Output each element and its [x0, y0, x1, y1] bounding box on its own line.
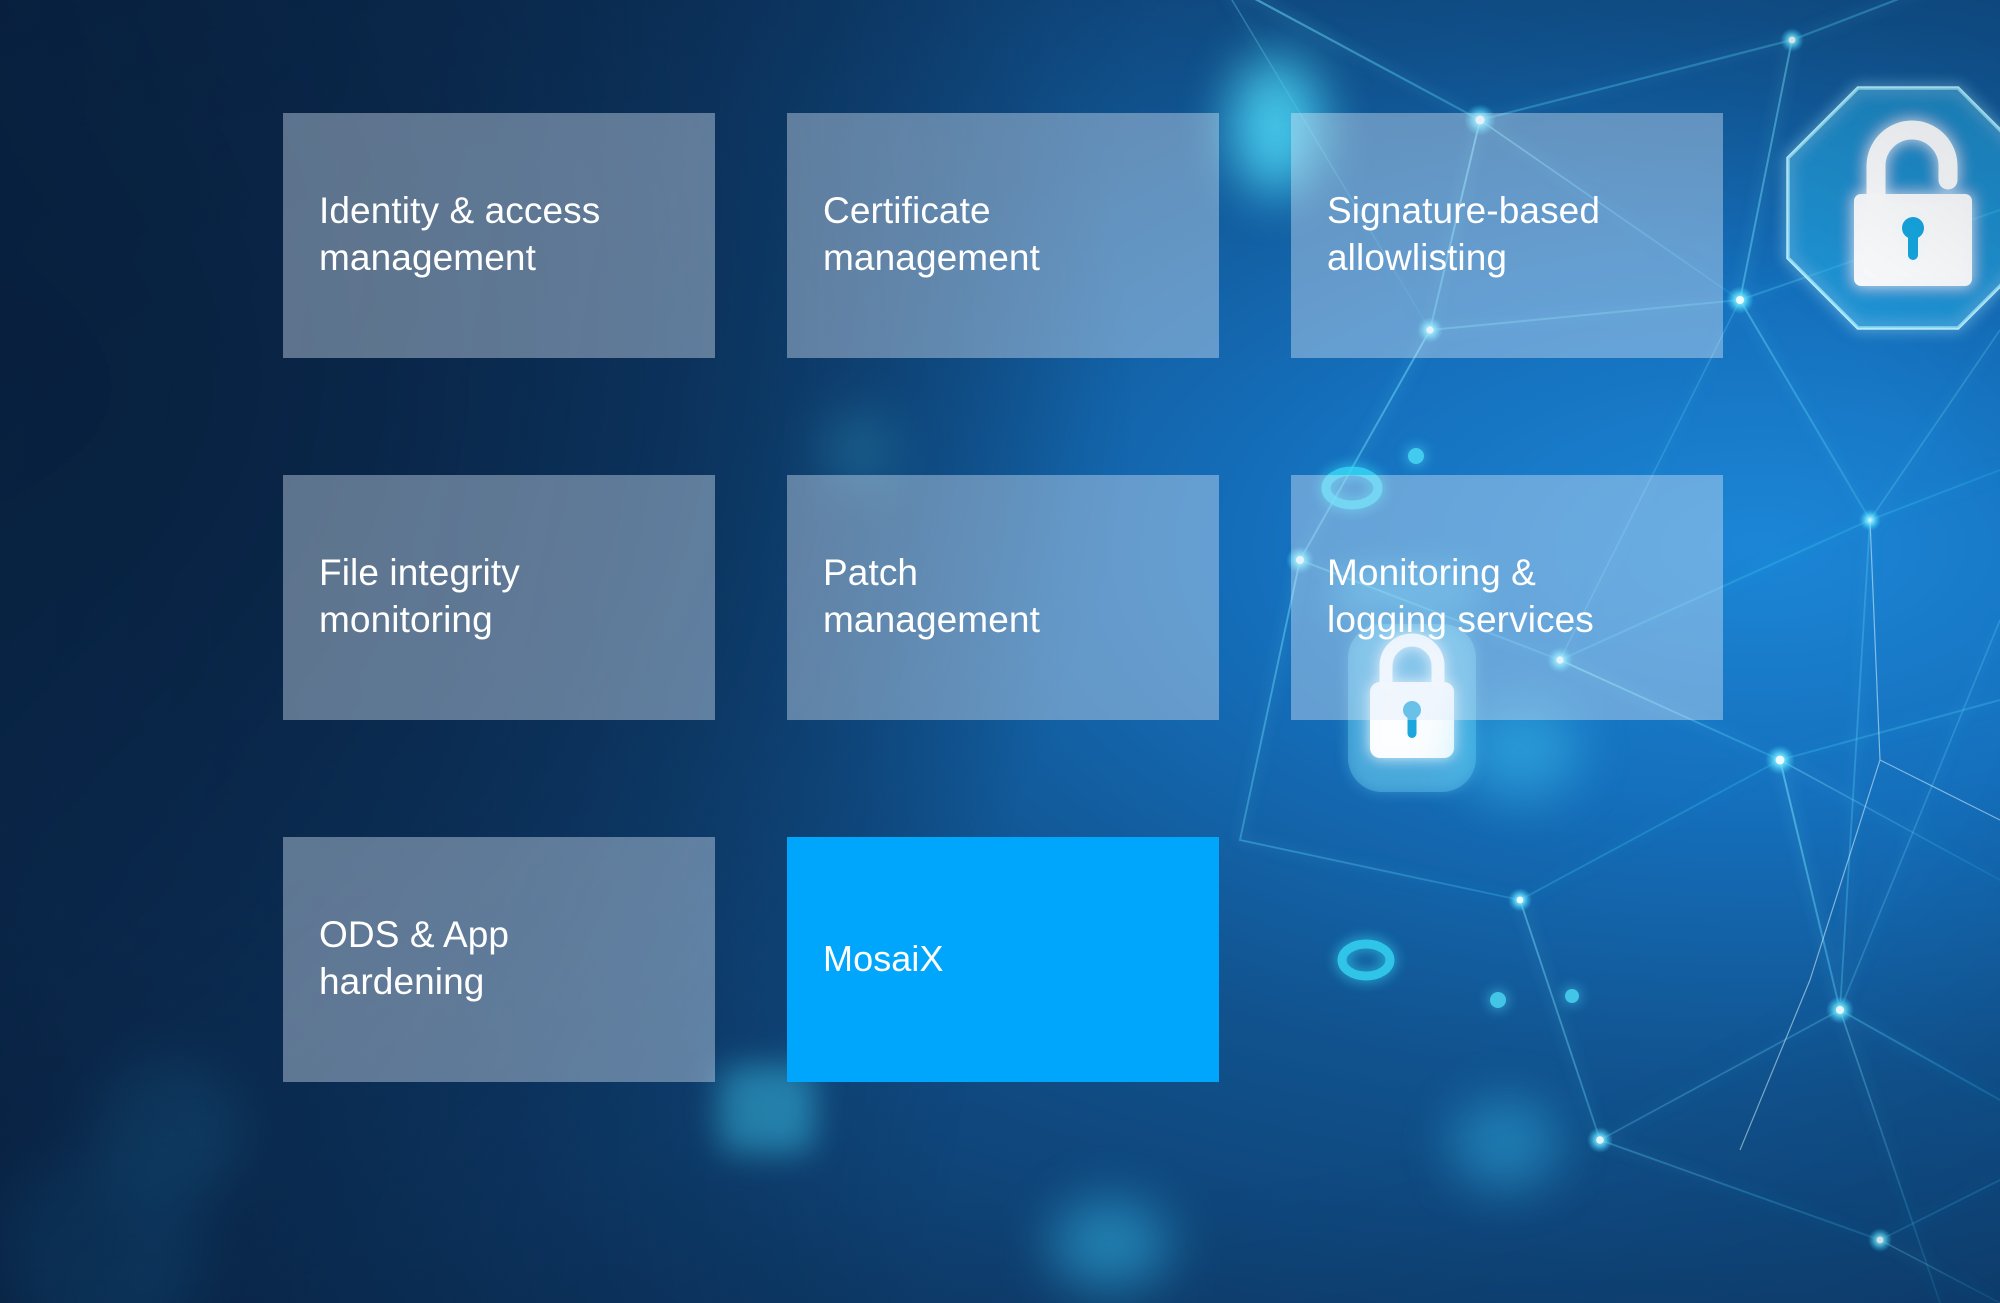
- tile-patch-management[interactable]: Patch management: [787, 475, 1219, 720]
- tile-ods-app-hardening[interactable]: ODS & App hardening: [283, 837, 715, 1082]
- tile-monitoring-logging-services[interactable]: Monitoring & logging services: [1291, 475, 1723, 720]
- tile-label: Signature-based allowlisting: [1327, 188, 1600, 282]
- tile-mosaix[interactable]: MosaiX: [787, 837, 1219, 1082]
- tile-label: File integrity monitoring: [319, 550, 520, 644]
- capability-tile-grid: Identity & access management Certificate…: [283, 113, 1715, 1082]
- tile-file-integrity-monitoring[interactable]: File integrity monitoring: [283, 475, 715, 720]
- tile-signature-based-allowlisting[interactable]: Signature-based allowlisting: [1291, 113, 1723, 358]
- tile-certificate-management[interactable]: Certificate management: [787, 113, 1219, 358]
- tile-label: MosaiX: [823, 936, 944, 982]
- tile-label: ODS & App hardening: [319, 912, 509, 1006]
- tile-identity-access-management[interactable]: Identity & access management: [283, 113, 715, 358]
- tile-empty-slot: [1291, 837, 1723, 1082]
- tile-label: Certificate management: [823, 188, 1040, 282]
- tile-label: Monitoring & logging services: [1327, 550, 1594, 644]
- slide-canvas: Identity & access management Certificate…: [0, 0, 2000, 1303]
- tile-label: Patch management: [823, 550, 1040, 644]
- tile-label: Identity & access management: [319, 188, 600, 282]
